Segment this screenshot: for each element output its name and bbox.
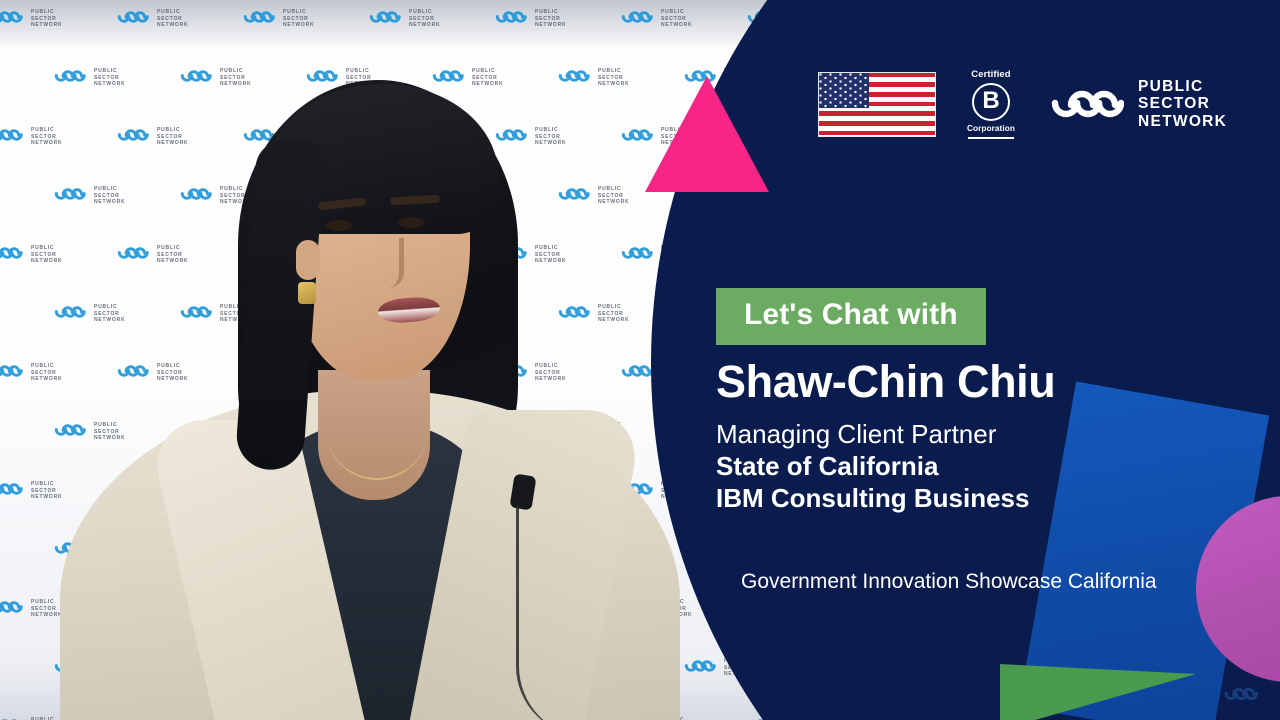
speaker-org-line-2: IBM Consulting Business bbox=[716, 482, 1029, 514]
backdrop-logo-text: PUBLICSECTORNETWORK bbox=[31, 481, 62, 500]
lets-chat-badge: Let's Chat with bbox=[716, 288, 986, 345]
backdrop-logo-text: PUBLICSECTORNETWORK bbox=[31, 245, 62, 264]
public-sector-network-logo-mark-icon bbox=[0, 478, 26, 505]
speaker-org-line-1: State of California bbox=[716, 450, 938, 482]
event-name: Government Innovation Showcase Californi… bbox=[741, 568, 1157, 595]
public-sector-network-logo-mark-icon bbox=[616, 6, 656, 33]
backdrop-logo-text: PUBLICSECTORNETWORK bbox=[31, 127, 62, 146]
certified-b-corporation-icon: Certified B Corporation bbox=[962, 69, 1020, 139]
backdrop-logo-tile: PUBLICSECTORNETWORK bbox=[364, 4, 476, 34]
backdrop-logo-tile: PUBLICSECTORNETWORK bbox=[0, 4, 98, 34]
pink-triangle bbox=[645, 76, 769, 192]
corner-watermark-logo-icon bbox=[1222, 682, 1258, 706]
backdrop-logo-text: PUBLICSECTORNETWORK bbox=[535, 9, 566, 28]
public-sector-network-logo-mark-icon bbox=[1046, 78, 1124, 130]
public-sector-network-logo-mark-icon bbox=[0, 242, 26, 269]
earring bbox=[298, 282, 316, 304]
backdrop-logo-tile: PUBLICSECTORNETWORK bbox=[0, 417, 35, 447]
microphone-cord bbox=[516, 506, 588, 720]
public-sector-network-logo-mark-icon bbox=[490, 6, 530, 33]
public-sector-network-wordmark: PUBLIC SECTOR NETWORK bbox=[1138, 78, 1227, 131]
bcorp-letter-circle: B bbox=[972, 83, 1010, 121]
backdrop-logo-tile: PUBLICSECTORNETWORK bbox=[616, 4, 728, 34]
public-sector-network-logo-mark-icon bbox=[0, 714, 26, 720]
backdrop-logo-tile: PUBLICSECTORNETWORK bbox=[0, 299, 35, 329]
eye-left bbox=[326, 220, 352, 231]
backdrop-logo-text: PUBLICSECTORNETWORK bbox=[31, 363, 62, 382]
bcorp-bottom-label: Corporation bbox=[967, 124, 1015, 133]
backdrop-logo-text: PUBLICSECTORNETWORK bbox=[661, 9, 692, 28]
backdrop-logo-tile: PUBLICSECTORNETWORK bbox=[0, 181, 35, 211]
backdrop-logo-tile: PUBLICSECTORNETWORK bbox=[112, 4, 224, 34]
backdrop-logo-text: PUBLICSECTORNETWORK bbox=[157, 9, 188, 28]
bcorp-top-label: Certified bbox=[971, 69, 1010, 80]
speaker-name: Shaw-Chin Chiu bbox=[716, 355, 1055, 409]
backdrop-logo-text: PUBLICSECTORNETWORK bbox=[409, 9, 440, 28]
psn-word-line1: PUBLIC bbox=[1138, 78, 1204, 95]
public-sector-network-logo-mark-icon bbox=[0, 6, 26, 33]
backdrop-logo-text: PUBLICSECTORNETWORK bbox=[31, 9, 62, 28]
public-sector-network-logo-mark-icon bbox=[364, 6, 404, 33]
public-sector-network-logo-mark-icon bbox=[679, 655, 719, 682]
speaker-role: Managing Client Partner bbox=[716, 418, 996, 450]
eye-right bbox=[398, 217, 424, 228]
backdrop-logo-tile: PUBLICSECTORNETWORK bbox=[0, 535, 35, 565]
backdrop-logo-tile: PUBLICSECTORNETWORK bbox=[0, 653, 35, 683]
public-sector-network-logo: PUBLIC SECTOR NETWORK bbox=[1046, 78, 1227, 131]
speaker-portrait bbox=[60, 70, 680, 720]
public-sector-network-logo-mark-icon bbox=[112, 6, 152, 33]
public-sector-network-logo-mark-icon bbox=[0, 360, 26, 387]
title-card-stage: PUBLICSECTORNETWORK PUBLICSECTORNETWORK bbox=[0, 0, 1280, 720]
flag-canton-stars bbox=[819, 73, 869, 108]
public-sector-network-logo-mark-icon bbox=[0, 596, 26, 623]
backdrop-logo-text: PUBLICSECTORNETWORK bbox=[31, 599, 62, 618]
psn-word-line2: SECTOR bbox=[1138, 95, 1210, 112]
backdrop-logo-tile: PUBLICSECTORNETWORK bbox=[238, 4, 350, 34]
psn-word-line3: NETWORK bbox=[1138, 113, 1227, 130]
ear bbox=[296, 240, 320, 280]
nose bbox=[378, 238, 404, 288]
public-sector-network-logo-mark-icon bbox=[238, 6, 278, 33]
green-triangle bbox=[1000, 664, 1196, 720]
backdrop-logo-tile: PUBLICSECTORNETWORK bbox=[0, 63, 35, 93]
backdrop-logo-text: PUBLICSECTORNETWORK bbox=[283, 9, 314, 28]
united-states-flag-icon bbox=[818, 72, 936, 137]
header-logo-row: Certified B Corporation PUBLIC bbox=[818, 60, 1227, 148]
bcorp-underline bbox=[968, 137, 1014, 139]
backdrop-logo-tile: PUBLICSECTORNETWORK bbox=[490, 4, 602, 34]
public-sector-network-logo-mark-icon bbox=[0, 124, 26, 151]
